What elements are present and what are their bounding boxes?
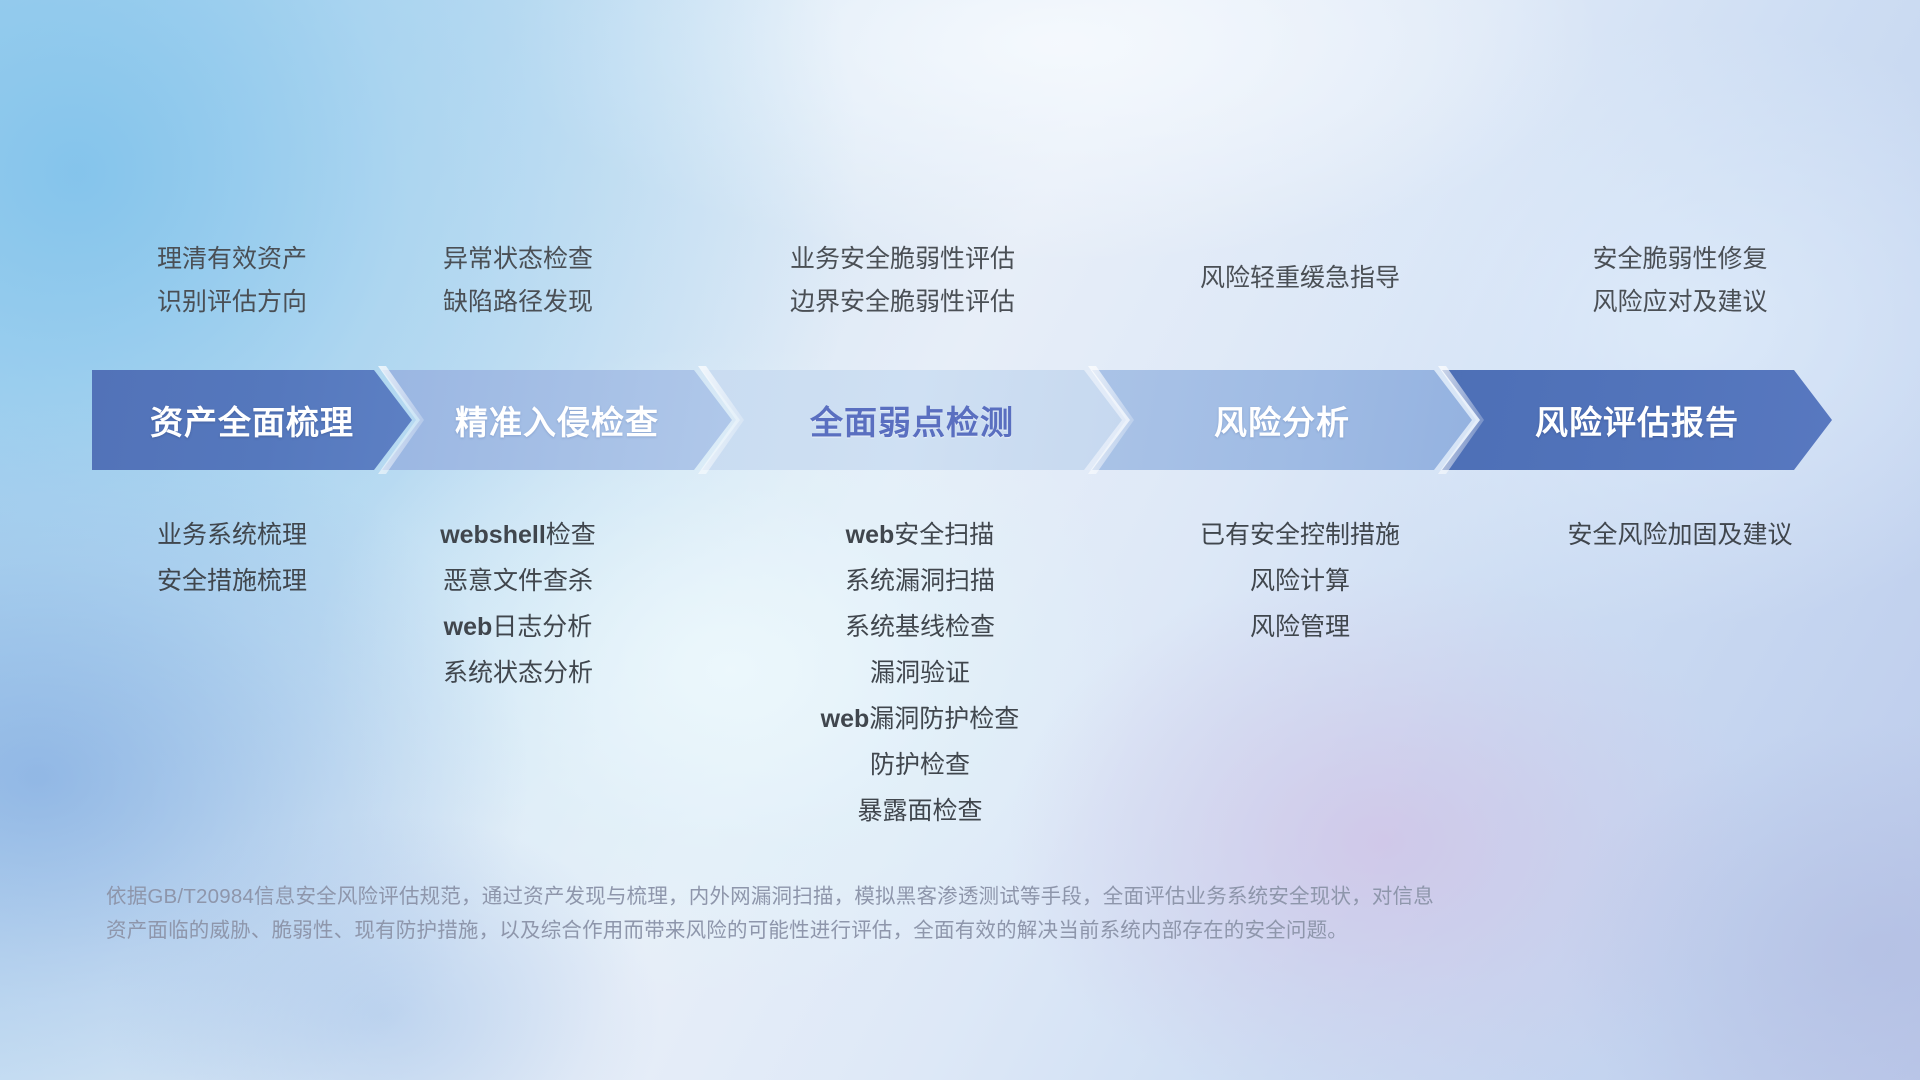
list-item: 暴露面检查 bbox=[690, 788, 1150, 834]
list-item: 漏洞验证 bbox=[690, 650, 1150, 696]
top-item: 识别评估方向 bbox=[92, 281, 372, 324]
list-item: 系统漏洞扫描 bbox=[690, 558, 1150, 604]
stage-top-items-weakness-detection: 业务安全脆弱性评估 边界安全脆弱性评估 bbox=[790, 238, 1040, 324]
stage-arrow-risk-report[interactable]: 风险评估报告 bbox=[1442, 370, 1832, 470]
footer-line: 资产面临的威胁、脆弱性、现有防护措施，以及综合作用而带来风险的可能性进行评估，全… bbox=[106, 914, 1626, 948]
stage-arrow-label: 风险评估报告 bbox=[1535, 396, 1739, 444]
list-item: 安全措施梳理 bbox=[92, 558, 372, 604]
stage-bottom-items-intrusion-check: webshell检查 恶意文件查杀 web日志分析 系统状态分析 bbox=[378, 512, 658, 696]
stage-arrow-label: 全面弱点检测 bbox=[810, 396, 1014, 444]
list-item: 防护检查 bbox=[690, 742, 1150, 788]
stage-top-items-intrusion-check: 异常状态检查 缺陷路径发现 bbox=[378, 238, 658, 324]
stage-arrow-intrusion-check[interactable]: 精准入侵检查 bbox=[382, 370, 732, 470]
stage-arrow-risk-analysis[interactable]: 风险分析 bbox=[1092, 370, 1472, 470]
stage-arrow-weakness-detection[interactable]: 全面弱点检测 bbox=[702, 370, 1122, 470]
top-item: 边界安全脆弱性评估 bbox=[790, 281, 1040, 324]
footer-description: 依据GB/T20984信息安全风险评估规范，通过资产发现与梳理，内外网漏洞扫描，… bbox=[106, 880, 1626, 949]
stage-bottom-items-asset-inventory: 业务系统梳理 安全措施梳理 bbox=[92, 512, 372, 604]
stage-bottom-items-risk-analysis: 已有安全控制措施 风险计算 风险管理 bbox=[1140, 512, 1460, 650]
list-item: 业务系统梳理 bbox=[92, 512, 372, 558]
stage-top-items-risk-report: 安全脆弱性修复 风险应对及建议 bbox=[1510, 238, 1850, 324]
list-item: 风险计算 bbox=[1140, 558, 1460, 604]
stage-bottom-items-weakness-detection: web安全扫描 系统漏洞扫描 系统基线检查 漏洞验证 web漏洞防护检查 防护检… bbox=[690, 512, 1150, 834]
stage-arrow-label: 资产全面梳理 bbox=[150, 396, 354, 444]
stage-arrow-asset-inventory[interactable]: 资产全面梳理 bbox=[92, 370, 412, 470]
list-item: web漏洞防护检查 bbox=[690, 696, 1150, 742]
stage-arrow-label: 精准入侵检查 bbox=[455, 396, 659, 444]
footer-line: 依据GB/T20984信息安全风险评估规范，通过资产发现与梳理，内外网漏洞扫描，… bbox=[106, 880, 1626, 914]
top-item: 异常状态检查 bbox=[378, 238, 658, 281]
top-item: 理清有效资产 bbox=[92, 238, 372, 281]
list-item: web日志分析 bbox=[378, 604, 658, 650]
list-item: 系统状态分析 bbox=[378, 650, 658, 696]
list-item: 恶意文件查杀 bbox=[378, 558, 658, 604]
list-item: web安全扫描 bbox=[690, 512, 1150, 558]
stage-arrow-label: 风险分析 bbox=[1214, 396, 1350, 444]
list-item: 安全风险加固及建议 bbox=[1510, 512, 1850, 558]
top-item: 安全脆弱性修复 bbox=[1510, 238, 1850, 281]
list-item: 已有安全控制措施 bbox=[1140, 512, 1460, 558]
top-item: 缺陷路径发现 bbox=[378, 281, 658, 324]
stage-top-items-asset-inventory: 理清有效资产 识别评估方向 bbox=[92, 238, 372, 324]
list-item: webshell检查 bbox=[378, 512, 658, 558]
top-item: 业务安全脆弱性评估 bbox=[790, 238, 1040, 281]
top-item: 风险应对及建议 bbox=[1510, 281, 1850, 324]
list-item: 风险管理 bbox=[1140, 604, 1460, 650]
process-arrow-banner: 资产全面梳理 精准入侵检查 全面弱点检测 风险分析 风险评估报告 bbox=[92, 370, 1832, 470]
top-item: 风险轻重缓急指导 bbox=[1140, 257, 1460, 300]
stage-top-items-risk-analysis: 风险轻重缓急指导 bbox=[1140, 257, 1460, 300]
stage-bottom-items-risk-report: 安全风险加固及建议 bbox=[1510, 512, 1850, 558]
list-item: 系统基线检查 bbox=[690, 604, 1150, 650]
